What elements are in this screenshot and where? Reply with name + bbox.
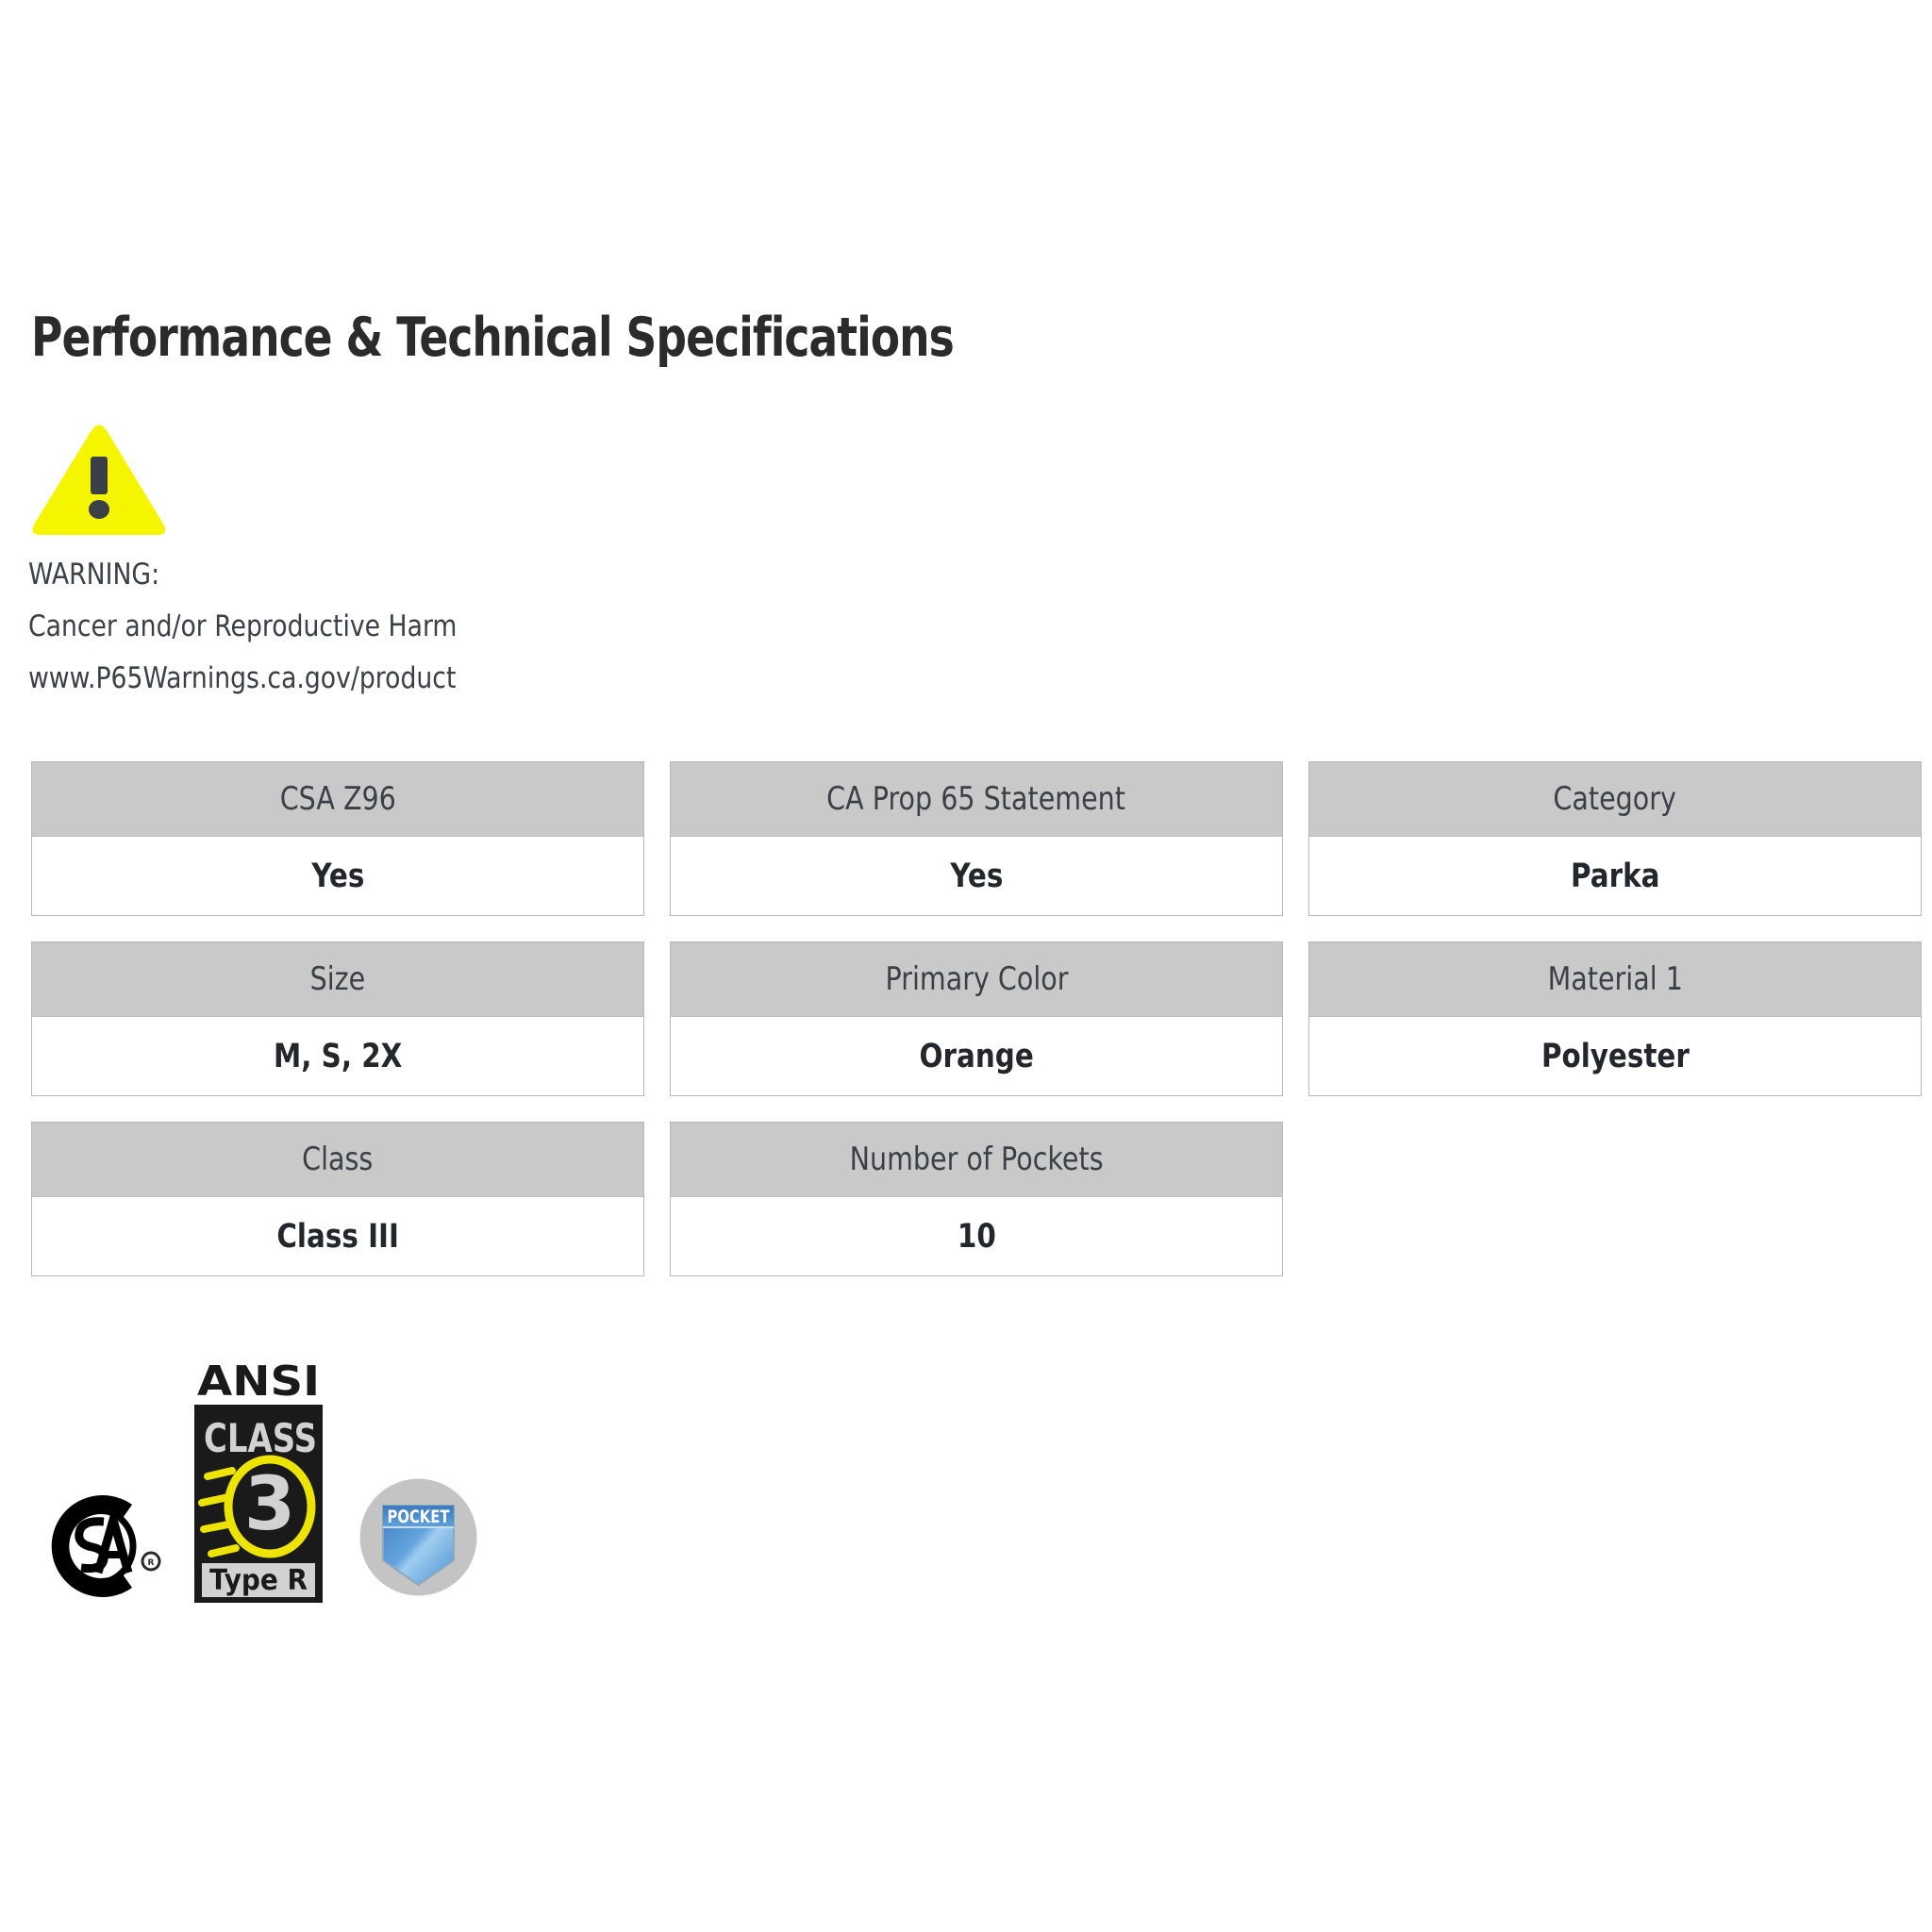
spec-row: Class Class III Number of Pockets 10 [31, 1122, 1901, 1276]
ansi-class-3-badge-icon: ANSI CLASS 3 Type R [189, 1354, 328, 1608]
spec-card-body: 10 [671, 1197, 1282, 1275]
spec-label: Primary Color [885, 960, 1068, 998]
spec-label: Category [1554, 780, 1676, 818]
spec-card-body: Orange [671, 1017, 1282, 1095]
spec-card-number-of-pockets: Number of Pockets 10 [670, 1122, 1283, 1276]
spec-card-header: CA Prop 65 Statement [671, 762, 1282, 837]
spec-card-header: Category [1309, 762, 1921, 837]
certification-badge-row: R ANSI CLASS 3 [38, 1354, 482, 1608]
spec-card-body: Parka [1309, 837, 1921, 915]
page-title: Performance & Technical Specifications [31, 307, 954, 369]
spec-card-header: Class [32, 1123, 643, 1197]
warning-line-1: Cancer and/or Reproductive Harm [28, 601, 758, 653]
spec-label: CA Prop 65 Statement [827, 780, 1126, 818]
spec-row: CSA Z96 Yes CA Prop 65 Statement Yes Cat… [31, 761, 1901, 916]
spec-value: Yes [311, 858, 364, 895]
csa-logo-icon: R [38, 1484, 162, 1608]
spec-card-class: Class Class III [31, 1122, 644, 1276]
spec-label: Size [310, 960, 366, 998]
spec-sheet-page: Performance & Technical Specifications W… [0, 0, 1932, 1932]
spec-label: Material 1 [1547, 960, 1682, 998]
spec-value: Polyester [1541, 1038, 1690, 1075]
spec-card-header: Material 1 [1309, 942, 1921, 1017]
spec-value: Orange [919, 1038, 1033, 1075]
spec-value: M, S, 2X [274, 1038, 402, 1075]
spec-card-header: Primary Color [671, 942, 1282, 1017]
spec-card-body: Yes [671, 837, 1282, 915]
svg-text:ANSI: ANSI [197, 1357, 320, 1406]
warning-triangle-icon [28, 423, 170, 543]
spec-card-primary-color: Primary Color Orange [670, 941, 1283, 1096]
pocket-badge-icon: POCKET [355, 1474, 482, 1601]
spec-label: Number of Pockets [850, 1141, 1104, 1178]
spec-card-material-1: Material 1 Polyester [1308, 941, 1922, 1096]
svg-text:CLASS: CLASS [204, 1415, 317, 1461]
spec-card-body: Yes [32, 837, 643, 915]
spec-card-body: Class III [32, 1197, 643, 1275]
warning-label: WARNING: [28, 549, 758, 601]
spec-value: Yes [950, 858, 1003, 895]
spec-card-csa-z96: CSA Z96 Yes [31, 761, 644, 916]
spec-value: Class III [276, 1218, 399, 1256]
spec-card-grid: CSA Z96 Yes CA Prop 65 Statement Yes Cat… [31, 761, 1901, 1302]
spec-value: 10 [958, 1218, 996, 1256]
warning-url: www.P65Warnings.ca.gov/product [28, 653, 758, 705]
spec-row: Size M, S, 2X Primary Color Orange Mater… [31, 941, 1901, 1096]
svg-text:Type R: Type R [209, 1564, 308, 1597]
spec-card-header: Size [32, 942, 643, 1017]
spec-card-category: Category Parka [1308, 761, 1922, 916]
spec-card-header: CSA Z96 [32, 762, 643, 837]
spec-card-empty-slot [1308, 1122, 1922, 1276]
spec-value: Parka [1571, 858, 1660, 895]
spec-card-body: Polyester [1309, 1017, 1921, 1095]
spec-card-size: Size M, S, 2X [31, 941, 644, 1096]
spec-label: CSA Z96 [279, 780, 395, 818]
svg-text:POCKET: POCKET [388, 1507, 450, 1527]
spec-card-header: Number of Pockets [671, 1123, 1282, 1197]
prop65-warning-block: WARNING: Cancer and/or Reproductive Harm… [28, 423, 877, 705]
spec-label: Class [302, 1141, 373, 1178]
spec-card-body: M, S, 2X [32, 1017, 643, 1095]
spec-card-ca-prop-65-statement: CA Prop 65 Statement Yes [670, 761, 1283, 916]
svg-text:R: R [148, 1558, 155, 1568]
svg-text:3: 3 [244, 1462, 295, 1547]
